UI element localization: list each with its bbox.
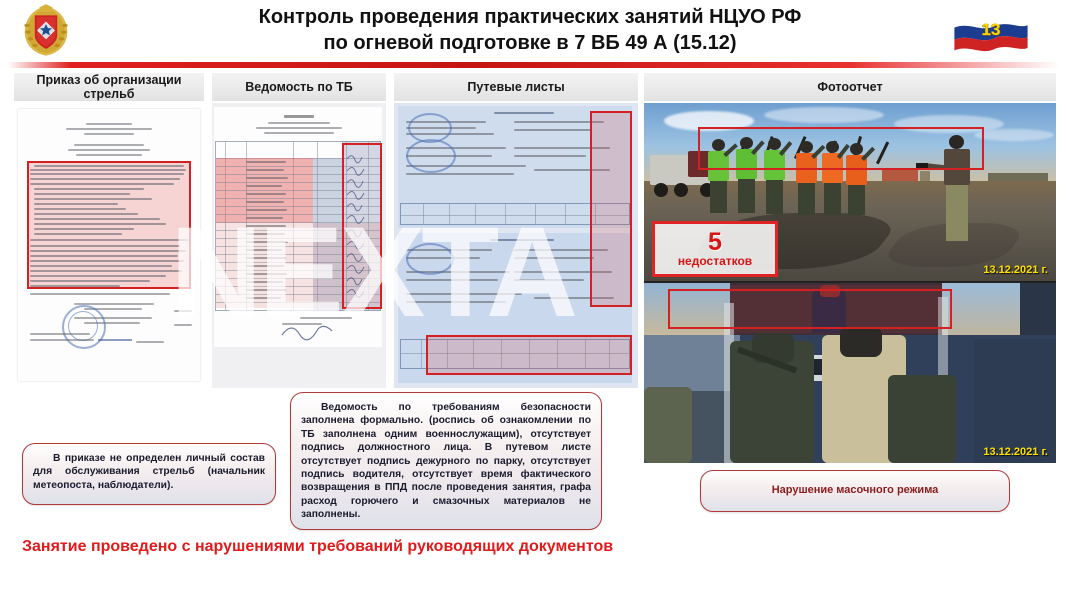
deficiency-count-label: недостатков xyxy=(678,254,752,268)
signature-scribbles xyxy=(344,149,378,307)
deficiency-count-badge: 5 недостатков xyxy=(652,221,778,277)
callout-register-deficiency: Ведомость по требованиям безопасности за… xyxy=(290,392,602,530)
slide-root: Контроль проведения практических занятий… xyxy=(0,0,1068,600)
photo-report-panel: 13.12.2021 г. xyxy=(644,103,1056,463)
photo-vehicle-interior: 13.12.2021 г. xyxy=(644,283,1056,463)
column-header-register: Ведомость по ТБ xyxy=(212,73,386,101)
header-divider xyxy=(8,62,1060,68)
photo-bottom-datestamp: 13.12.2021 г. xyxy=(983,446,1048,458)
callout-order-text: В приказе не определен личный состав для… xyxy=(33,452,265,492)
document-order-image xyxy=(14,103,204,388)
callout-order-deficiency: В приказе не определен личный состав для… xyxy=(22,443,276,505)
page-title-line1: Контроль проведения практических занятий… xyxy=(130,4,930,30)
waybill-right-column-highlight-box xyxy=(590,111,632,307)
callout-mask-violation: Нарушение масочного режима xyxy=(700,470,1010,512)
russian-armed-forces-emblem-icon xyxy=(18,3,74,59)
photo-top-highlight-box xyxy=(698,127,984,170)
page-title: Контроль проведения практических занятий… xyxy=(130,4,930,56)
callout-mask-text: Нарушение масочного режима xyxy=(772,484,939,497)
callout-register-text: Ведомость по требованиям безопасности за… xyxy=(301,401,591,522)
photo-bottom-highlight-box xyxy=(668,289,952,329)
document-waybills-image xyxy=(394,103,638,388)
slide-header: Контроль проведения практических занятий… xyxy=(0,0,1068,63)
photo-top-datestamp: 13.12.2021 г. xyxy=(983,264,1048,276)
slide-number: 13 xyxy=(952,20,1030,40)
page-title-line2: по огневой подготовке в 7 ВБ 49 А (15.12… xyxy=(130,30,930,56)
conclusion-text: Занятие проведено с нарушениями требован… xyxy=(22,538,922,556)
register-bottom-signature xyxy=(278,321,338,341)
column-header-order: Приказ об организации стрельб xyxy=(14,73,204,101)
waybill-bottom-row-highlight-box xyxy=(426,335,632,375)
column-header-waybills: Путевые листы xyxy=(394,73,638,101)
document-safety-register-image xyxy=(212,103,386,388)
column-header-photoreport: Фотоотчет xyxy=(644,73,1056,101)
deficiency-count-number: 5 xyxy=(708,230,722,254)
